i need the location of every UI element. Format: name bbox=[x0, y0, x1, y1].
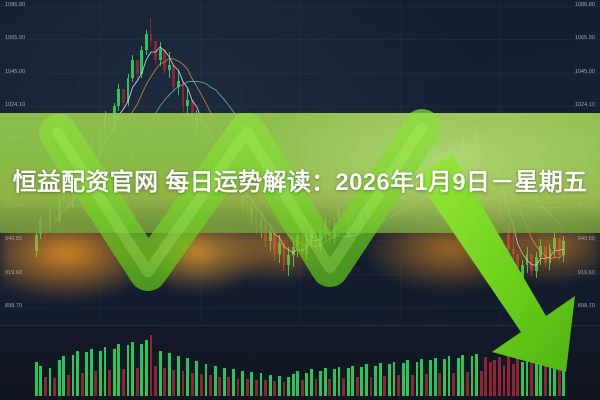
page-title: 恒益配资官网 每日运势解读：2026年1月9日－星期五 bbox=[0, 162, 600, 204]
promo-banner: 1086.801065.901045.001024.101003.20982.3… bbox=[0, 0, 600, 400]
headline-text: 恒益配资官网 每日运势解读：2026年1月9日－星期五 bbox=[13, 169, 588, 196]
